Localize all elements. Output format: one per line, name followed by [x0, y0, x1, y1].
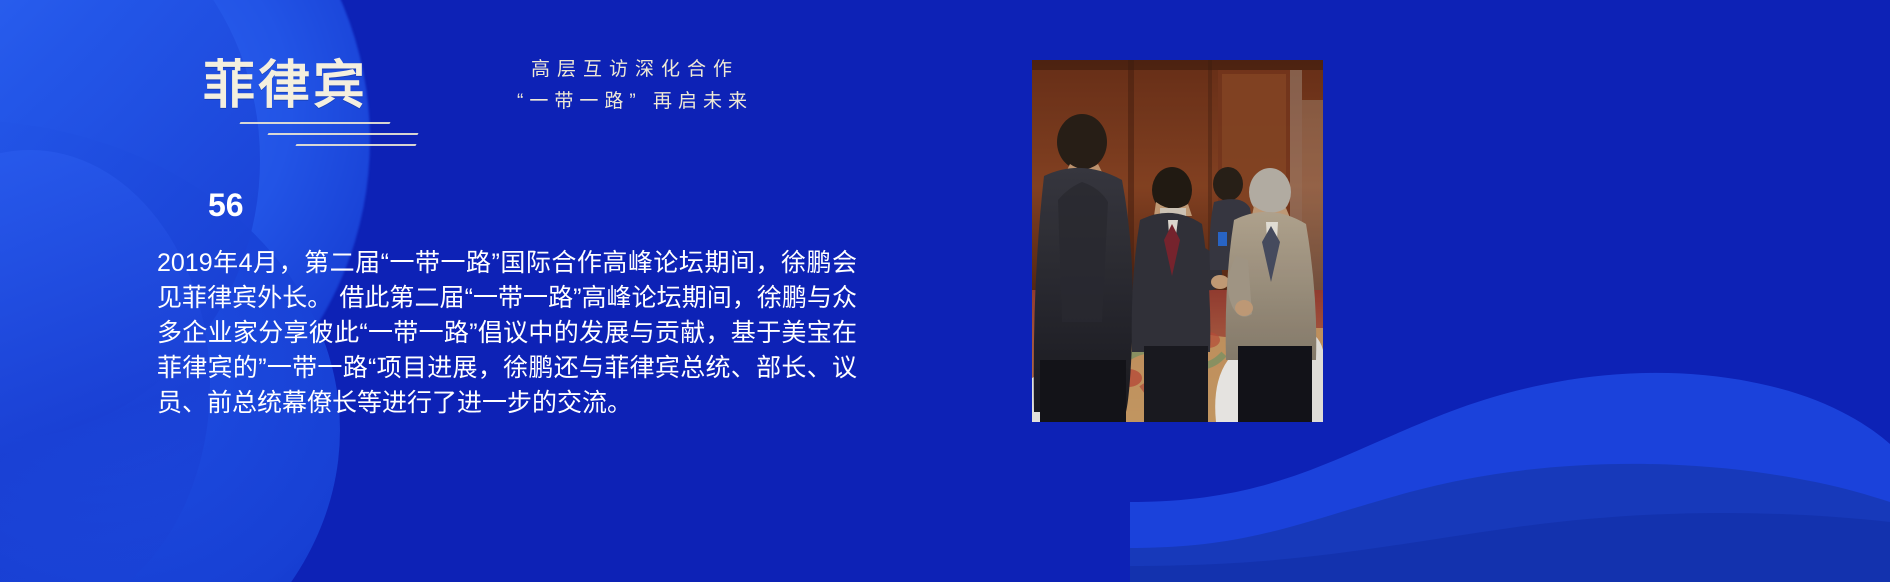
left-content-column: 菲律宾 高层互访深化合作 “一带一路” 再启未来 56 2019年4月，第二届“… — [0, 0, 1000, 582]
header-subtitle-line-1: 高层互访深化合作 — [455, 54, 815, 86]
title-rule-line-1 — [239, 122, 390, 124]
header-subtitle-line-2: “一带一路” 再启未来 — [455, 86, 815, 118]
title-rule-line-3 — [295, 144, 416, 146]
page-title: 菲律宾 — [203, 60, 368, 112]
photo-illustration — [1032, 60, 1323, 422]
title-rule-line-2 — [267, 133, 418, 135]
header-subtitle-block: 高层互访深化合作 “一带一路” 再启未来 — [455, 54, 815, 118]
slide-root: 菲律宾 高层互访深化合作 “一带一路” 再启未来 56 2019年4月，第二届“… — [0, 0, 1890, 582]
title-underline-decoration — [240, 122, 400, 156]
body-paragraph: 2019年4月，第二届“一带一路”国际合作高峰论坛期间，徐鹏会见菲律宾外长。 借… — [157, 246, 857, 421]
item-number: 56 — [208, 189, 244, 221]
photo-meeting — [1032, 60, 1323, 422]
